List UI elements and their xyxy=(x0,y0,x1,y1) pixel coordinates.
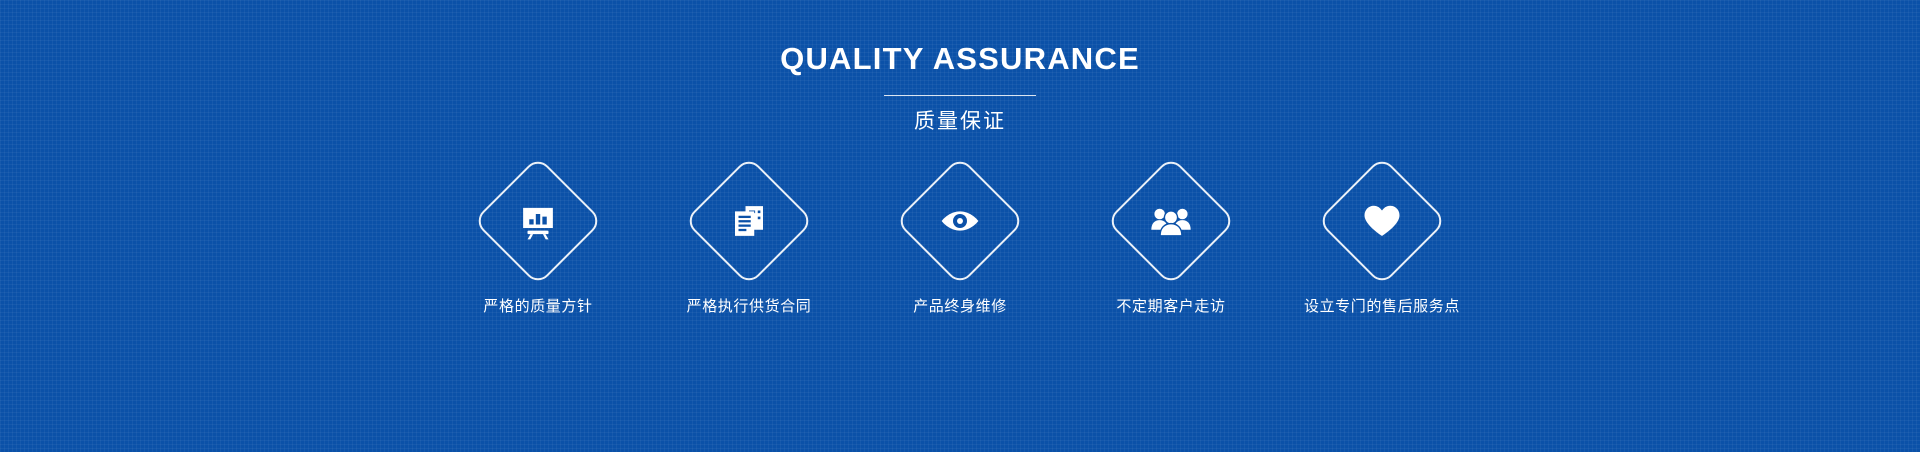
feature-item-supply-contract[interactable]: 严格执行供货合同 xyxy=(663,175,835,318)
presentation-chart-icon xyxy=(516,199,560,243)
quality-assurance-banner: QUALITY ASSURANCE 质量保证 xyxy=(0,0,1920,452)
feature-label: 设立专门的售后服务点 xyxy=(1304,296,1460,318)
feature-label: 不定期客户走访 xyxy=(1116,296,1225,318)
heart-icon xyxy=(1360,199,1404,243)
feature-item-lifetime-service[interactable]: 产品终身维修 xyxy=(874,175,1046,318)
feature-item-after-sales-points[interactable]: 设立专门的售后服务点 xyxy=(1296,175,1468,318)
feature-label: 产品终身维修 xyxy=(913,296,1007,318)
diamond-frame xyxy=(684,156,814,286)
feature-item-quality-policy[interactable]: 严格的质量方针 xyxy=(452,175,624,318)
title-divider xyxy=(884,95,1036,96)
documents-contract-icon xyxy=(727,199,771,243)
diamond-frame xyxy=(1317,156,1447,286)
page-subtitle: 质量保证 xyxy=(914,108,1006,136)
diamond-frame xyxy=(1106,156,1236,286)
people-group-icon xyxy=(1149,199,1193,243)
feature-label: 严格执行供货合同 xyxy=(687,296,812,318)
page-title: QUALITY ASSURANCE xyxy=(780,40,1140,78)
diamond-frame xyxy=(895,156,1025,286)
feature-item-customer-visits[interactable]: 不定期客户走访 xyxy=(1085,175,1257,318)
eye-icon xyxy=(938,199,982,243)
diamond-frame xyxy=(473,156,603,286)
feature-label: 严格的质量方针 xyxy=(483,296,592,318)
heading-block: QUALITY ASSURANCE 质量保证 xyxy=(780,40,1140,136)
feature-list: 严格的质量方针 xyxy=(452,175,1468,318)
